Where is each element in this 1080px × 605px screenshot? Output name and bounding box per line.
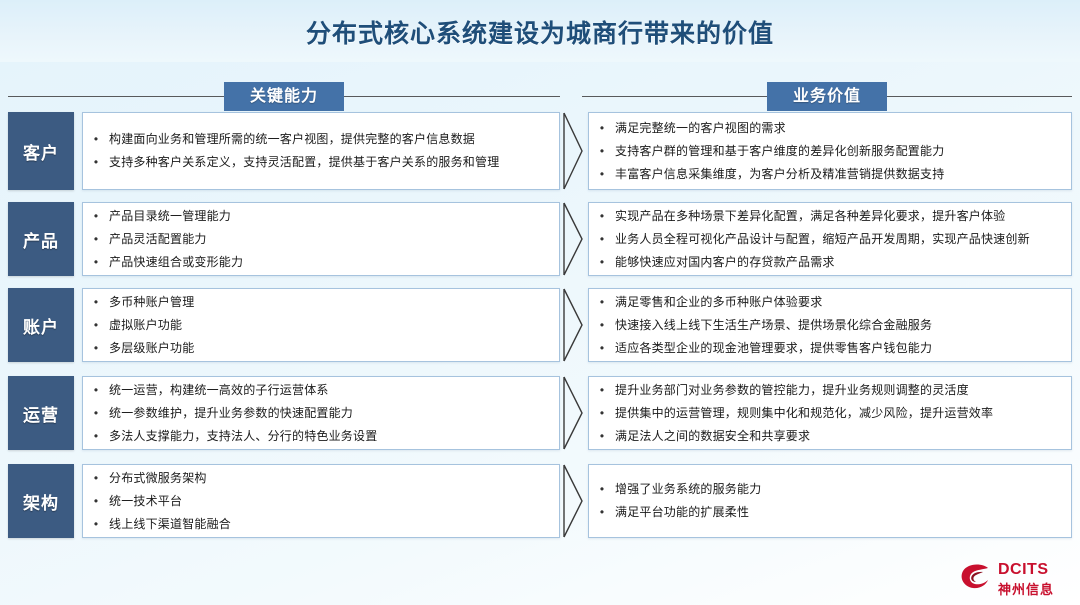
capability-text: 统一运营，构建统一高效的子行运营体系 xyxy=(109,383,549,398)
capability-text: 多法人支撑能力，支持法人、分行的特色业务设置 xyxy=(109,429,549,444)
flow-arrow-icon xyxy=(560,288,586,362)
flow-arrow-icon xyxy=(560,376,586,450)
flow-arrow-icon xyxy=(560,464,586,538)
bullet-dot-icon: • xyxy=(589,383,615,398)
business-value-text: 能够快速应对国内客户的存贷款产品需求 xyxy=(615,255,1061,270)
bullet-dot-icon: • xyxy=(83,132,109,147)
bullet-dot-icon: • xyxy=(589,406,615,421)
business-value-text: 丰富客户信息采集维度，为客户分析及精准营销提供数据支持 xyxy=(615,167,1061,182)
business-value-bullet: •能够快速应对国内客户的存贷款产品需求 xyxy=(589,251,1071,274)
business-value-bullet: •提升业务部门对业务参数的管控能力，提升业务规则调整的灵活度 xyxy=(589,379,1071,402)
bullet-dot-icon: • xyxy=(83,295,109,310)
capability-bullet: •产品灵活配置能力 xyxy=(83,228,559,251)
flow-arrow-icon xyxy=(560,202,586,276)
business-value-bullet: •适应各类型企业的现金池管理要求，提供零售客户钱包能力 xyxy=(589,337,1071,360)
bullet-dot-icon: • xyxy=(83,429,109,444)
capability-bullet: •虚拟账户功能 xyxy=(83,314,559,337)
capability-bullet: •多币种账户管理 xyxy=(83,291,559,314)
flow-arrow-icon xyxy=(560,112,586,190)
business-value-bullet: •满足零售和企业的多币种账户体验要求 xyxy=(589,291,1071,314)
bullet-dot-icon: • xyxy=(589,295,615,310)
capability-text: 多层级账户功能 xyxy=(109,341,549,356)
capability-bullet: •统一参数维护，提升业务参数的快速配置能力 xyxy=(83,402,559,425)
business-value-bullet: •快速接入线上线下生活生产场景、提供场景化综合金融服务 xyxy=(589,314,1071,337)
business-value-bullet: •满足完整统一的客户视图的需求 xyxy=(589,117,1071,140)
capability-bullet: •统一运营，构建统一高效的子行运营体系 xyxy=(83,379,559,402)
bullet-dot-icon: • xyxy=(83,406,109,421)
business-value-text: 满足平台功能的扩展柔性 xyxy=(615,505,1061,520)
bullet-dot-icon: • xyxy=(83,209,109,224)
capability-text: 分布式微服务架构 xyxy=(109,471,549,486)
bullet-dot-icon: • xyxy=(83,383,109,398)
bullet-dot-icon: • xyxy=(83,318,109,333)
capabilities-panel: •分布式微服务架构•统一技术平台•线上线下渠道智能融合 xyxy=(82,464,560,538)
bullet-dot-icon: • xyxy=(83,155,109,170)
business-value-text: 快速接入线上线下生活生产场景、提供场景化综合金融服务 xyxy=(615,318,1061,333)
bullet-dot-icon: • xyxy=(589,232,615,247)
bullet-dot-icon: • xyxy=(589,209,615,224)
row-tag-2[interactable]: 账户 xyxy=(8,288,74,362)
bullet-dot-icon: • xyxy=(589,121,615,136)
bullet-dot-icon: • xyxy=(589,505,615,520)
business-value-text: 增强了业务系统的服务能力 xyxy=(615,482,1061,497)
logo-chinese-text: 神州信息 xyxy=(998,579,1054,598)
capability-bullet: •产品目录统一管理能力 xyxy=(83,205,559,228)
capabilities-panel: •构建面向业务和管理所需的统一客户视图，提供完整的客户信息数据•支持多种客户关系… xyxy=(82,112,560,190)
business-value-bullet: •实现产品在多种场景下差异化配置，满足各种差异化要求，提升客户体验 xyxy=(589,205,1071,228)
column-header-capabilities: 关键能力 xyxy=(8,82,560,111)
capability-text: 产品灵活配置能力 xyxy=(109,232,549,247)
capability-text: 产品快速组合或变形能力 xyxy=(109,255,549,270)
business-value-text: 支持客户群的管理和基于客户维度的差异化创新服务配置能力 xyxy=(615,144,1061,159)
capabilities-panel: •统一运营，构建统一高效的子行运营体系•统一参数维护，提升业务参数的快速配置能力… xyxy=(82,376,560,450)
capability-text: 构建面向业务和管理所需的统一客户视图，提供完整的客户信息数据 xyxy=(109,132,549,147)
capability-bullet: •分布式微服务架构 xyxy=(83,467,559,490)
capability-bullet: •构建面向业务和管理所需的统一客户视图，提供完整的客户信息数据 xyxy=(83,128,559,151)
business-value-bullet: •满足平台功能的扩展柔性 xyxy=(589,501,1071,524)
bullet-dot-icon: • xyxy=(589,429,615,444)
bullet-dot-icon: • xyxy=(83,517,109,532)
business-value-bullet: •支持客户群的管理和基于客户维度的差异化创新服务配置能力 xyxy=(589,140,1071,163)
row-tag-3[interactable]: 运营 xyxy=(8,376,74,450)
bullet-dot-icon: • xyxy=(83,471,109,486)
business-value-bullet: •业务人员全程可视化产品设计与配置，缩短产品开发周期，实现产品快速创新 xyxy=(589,228,1071,251)
bullet-dot-icon: • xyxy=(83,494,109,509)
capability-text: 虚拟账户功能 xyxy=(109,318,549,333)
bullet-dot-icon: • xyxy=(589,144,615,159)
business-value-text: 业务人员全程可视化产品设计与配置，缩短产品开发周期，实现产品快速创新 xyxy=(615,232,1061,247)
business-value-text: 满足零售和企业的多币种账户体验要求 xyxy=(615,295,1061,310)
business-value-text: 提供集中的运营管理，规则集中化和规范化，减少风险，提升运营效率 xyxy=(615,406,1061,421)
business-value-text: 满足完整统一的客户视图的需求 xyxy=(615,121,1061,136)
brand-logo: DCITS 神州信息 xyxy=(958,560,1074,600)
capability-text: 产品目录统一管理能力 xyxy=(109,209,549,224)
column-header-capabilities-label: 关键能力 xyxy=(224,82,344,111)
capabilities-panel: •产品目录统一管理能力•产品灵活配置能力•产品快速组合或变形能力 xyxy=(82,202,560,276)
capability-bullet: •产品快速组合或变形能力 xyxy=(83,251,559,274)
bullet-dot-icon: • xyxy=(589,341,615,356)
capability-bullet: •支持多种客户关系定义，支持灵活配置，提供基于客户关系的服务和管理 xyxy=(83,151,559,174)
bullet-dot-icon: • xyxy=(589,482,615,497)
capability-bullet: •统一技术平台 xyxy=(83,490,559,513)
business-value-panel: •实现产品在多种场景下差异化配置，满足各种差异化要求，提升客户体验•业务人员全程… xyxy=(588,202,1072,276)
bullet-dot-icon: • xyxy=(589,318,615,333)
capability-text: 多币种账户管理 xyxy=(109,295,549,310)
capability-bullet: •多层级账户功能 xyxy=(83,337,559,360)
row-tag-1[interactable]: 产品 xyxy=(8,202,74,276)
business-value-panel: •增强了业务系统的服务能力•满足平台功能的扩展柔性 xyxy=(588,464,1072,538)
capability-text: 统一参数维护，提升业务参数的快速配置能力 xyxy=(109,406,549,421)
business-value-panel: •提升业务部门对业务参数的管控能力，提升业务规则调整的灵活度•提供集中的运营管理… xyxy=(588,376,1072,450)
column-header-values: 业务价值 xyxy=(582,82,1072,111)
capability-text: 线上线下渠道智能融合 xyxy=(109,517,549,532)
business-value-text: 提升业务部门对业务参数的管控能力，提升业务规则调整的灵活度 xyxy=(615,383,1061,398)
business-value-bullet: •满足法人之间的数据安全和共享要求 xyxy=(589,425,1071,448)
business-value-panel: •满足完整统一的客户视图的需求•支持客户群的管理和基于客户维度的差异化创新服务配… xyxy=(588,112,1072,190)
business-value-text: 实现产品在多种场景下差异化配置，满足各种差异化要求，提升客户体验 xyxy=(615,209,1061,224)
business-value-text: 适应各类型企业的现金池管理要求，提供零售客户钱包能力 xyxy=(615,341,1061,356)
capability-text: 支持多种客户关系定义，支持灵活配置，提供基于客户关系的服务和管理 xyxy=(109,155,549,170)
bullet-dot-icon: • xyxy=(589,255,615,270)
capabilities-panel: •多币种账户管理•虚拟账户功能•多层级账户功能 xyxy=(82,288,560,362)
slide-canvas: 分布式核心系统建设为城商行带来的价值 关键能力 业务价值 客户•构建面向业务和管… xyxy=(0,0,1080,605)
bullet-dot-icon: • xyxy=(83,341,109,356)
bullet-dot-icon: • xyxy=(83,255,109,270)
business-value-bullet: •提供集中的运营管理，规则集中化和规范化，减少风险，提升运营效率 xyxy=(589,402,1071,425)
business-value-panel: •满足零售和企业的多币种账户体验要求•快速接入线上线下生活生产场景、提供场景化综… xyxy=(588,288,1072,362)
capability-text: 统一技术平台 xyxy=(109,494,549,509)
bullet-dot-icon: • xyxy=(589,167,615,182)
page-title: 分布式核心系统建设为城商行带来的价值 xyxy=(0,14,1080,50)
row-tag-0[interactable]: 客户 xyxy=(8,112,74,190)
bullet-dot-icon: • xyxy=(83,232,109,247)
column-header-values-label: 业务价值 xyxy=(767,82,887,111)
logo-english-text: DCITS xyxy=(998,561,1049,579)
row-tag-4[interactable]: 架构 xyxy=(8,464,74,538)
business-value-bullet: •丰富客户信息采集维度，为客户分析及精准营销提供数据支持 xyxy=(589,163,1071,186)
capability-bullet: •多法人支撑能力，支持法人、分行的特色业务设置 xyxy=(83,425,559,448)
dcits-swoosh-icon xyxy=(958,562,992,594)
capability-bullet: •线上线下渠道智能融合 xyxy=(83,513,559,536)
business-value-bullet: •增强了业务系统的服务能力 xyxy=(589,478,1071,501)
business-value-text: 满足法人之间的数据安全和共享要求 xyxy=(615,429,1061,444)
